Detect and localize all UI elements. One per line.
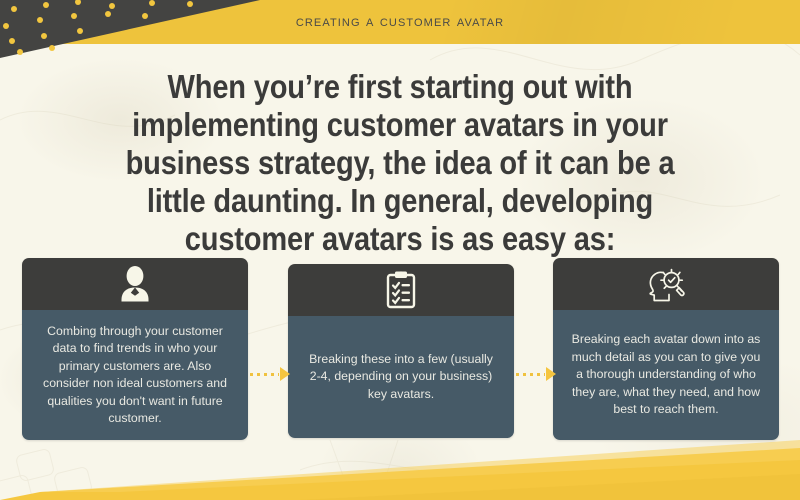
page-title: Creating a customer avatar [0, 0, 800, 44]
step-card-2[interactable]: Breaking these into a few (usually 2-4, … [288, 264, 514, 438]
step-card-2-header [288, 264, 514, 316]
person-icon [115, 265, 155, 303]
head-magnifier-icon [643, 263, 689, 305]
arrow-card2-to-card3 [516, 367, 556, 381]
dotted-line [250, 373, 279, 376]
step-card-1-header [22, 258, 248, 310]
headline-text: When you’re first starting out with impl… [101, 68, 699, 258]
bottom-ribbon-decoration [0, 430, 800, 500]
step-card-1-text: Combing through your customer data to fi… [22, 310, 248, 440]
arrow-head-icon [546, 367, 556, 381]
arrow-head-icon [280, 367, 290, 381]
step-card-3[interactable]: Breaking each avatar down into as much d… [553, 258, 779, 440]
dotted-line [516, 373, 545, 376]
slide-canvas: Creating a customer avatar When you’re f… [0, 0, 800, 500]
step-card-2-text: Breaking these into a few (usually 2-4, … [288, 316, 514, 438]
step-card-3-header [553, 258, 779, 310]
arrow-card1-to-card2 [250, 367, 290, 381]
step-card-3-text: Breaking each avatar down into as much d… [553, 310, 779, 440]
step-card-1[interactable]: Combing through your customer data to fi… [22, 258, 248, 440]
clipboard-checklist-icon [383, 270, 419, 310]
